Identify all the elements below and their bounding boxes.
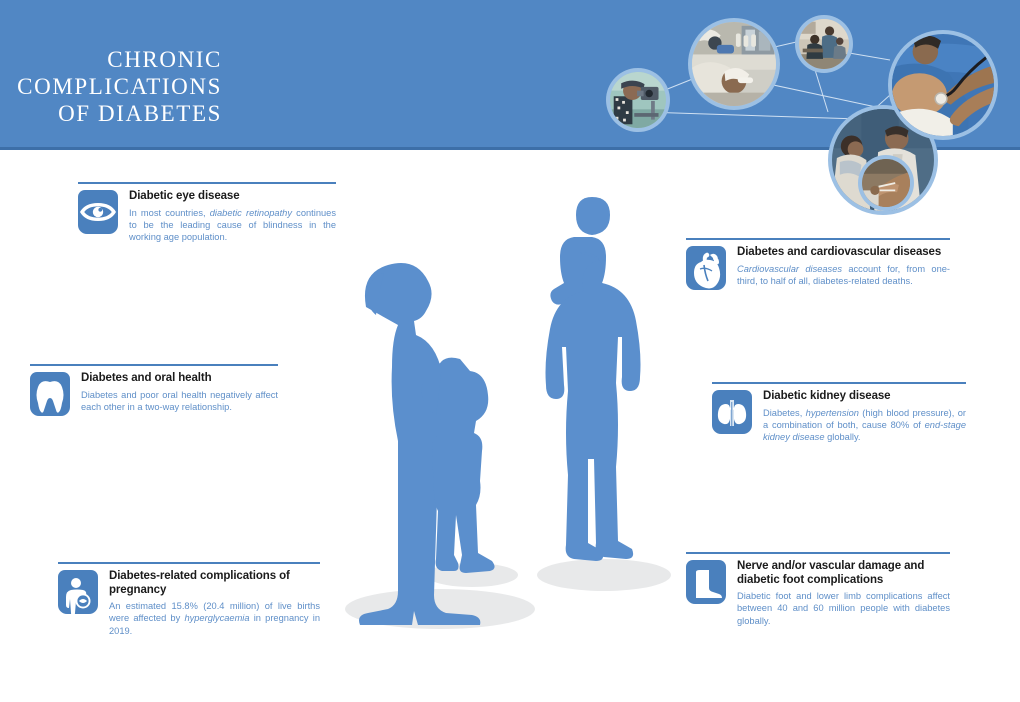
callout-title: Diabetic kidney disease: [763, 390, 966, 404]
tooth-icon: [30, 372, 70, 416]
family-silhouette-group: [300, 185, 700, 645]
kidneys-icon: [712, 390, 752, 434]
callout-text: Cardiovascular diseases account for, fro…: [737, 263, 950, 288]
callout-diabetic-eye-disease: Diabetic eye disease In most countries, …: [78, 182, 336, 244]
callout-text: Diabetic foot and lower limb complicatio…: [737, 590, 950, 627]
eye-surgery-photo: [692, 22, 776, 106]
pregnancy-icon: [58, 570, 98, 614]
retinal-eye-screening-photo: [610, 72, 666, 128]
callout-diabetes-oral-health: Diabetes and oral health Diabetes and po…: [30, 364, 278, 416]
photo-bubble-eye-surgery[interactable]: [688, 18, 780, 110]
heart-icon: [686, 246, 726, 290]
clinic-waiting-room-photo: [799, 19, 849, 69]
infographic-poster: CHRONIC COMPLICATIONS OF DIABETES: [0, 0, 1020, 702]
diabetic-foot-exam-photo: [862, 159, 910, 207]
callout-text: Diabetes and poor oral health negatively…: [81, 389, 278, 414]
callout-pregnancy-complications: Diabetes-related complications of pregna…: [58, 562, 320, 637]
callout-diabetic-kidney-disease: Diabetic kidney disease Diabetes, hypert…: [712, 382, 966, 444]
callout-text: In most countries, diabetic retinopathy …: [129, 207, 336, 244]
callout-cardiovascular-diseases: Diabetes and cardiovascular diseases Car…: [686, 238, 950, 290]
callout-diabetic-foot-complications: Nerve and/or vascular damage and diabeti…: [686, 552, 950, 627]
callout-title: Diabetes and cardiovascular diseases: [737, 246, 950, 260]
callout-rule: [712, 382, 966, 384]
foot-icon: [686, 560, 726, 604]
photo-bubble-retinal-eye-screening[interactable]: [606, 68, 670, 132]
callout-title: Diabetes-related complications of pregna…: [109, 570, 320, 597]
callout-rule: [686, 238, 950, 240]
callout-title: Diabetic eye disease: [129, 190, 336, 204]
photo-bubble-clinic-waiting-room[interactable]: [795, 15, 853, 73]
photo-bubble-cardiac-stethoscope-exam[interactable]: [888, 30, 998, 140]
callout-rule: [58, 562, 320, 564]
callout-text: Diabetes, hypertension (high blood press…: [763, 407, 966, 444]
callout-rule: [30, 364, 278, 366]
callout-title: Nerve and/or vascular damage and diabeti…: [737, 560, 950, 587]
page-title: CHRONIC COMPLICATIONS OF DIABETES: [0, 46, 222, 127]
photo-cluster: [590, 0, 1020, 200]
eye-icon: [78, 190, 118, 234]
man-shadow: [537, 559, 671, 591]
callout-text: An estimated 15.8% (20.4 million) of liv…: [109, 600, 320, 637]
callout-rule: [686, 552, 950, 554]
man-with-child-silhouette: [546, 197, 641, 561]
callout-rule: [78, 182, 336, 184]
photo-bubble-diabetic-foot-exam[interactable]: [858, 155, 914, 211]
cardiac-stethoscope-exam-photo: [892, 34, 994, 136]
callout-title: Diabetes and oral health: [81, 372, 278, 386]
